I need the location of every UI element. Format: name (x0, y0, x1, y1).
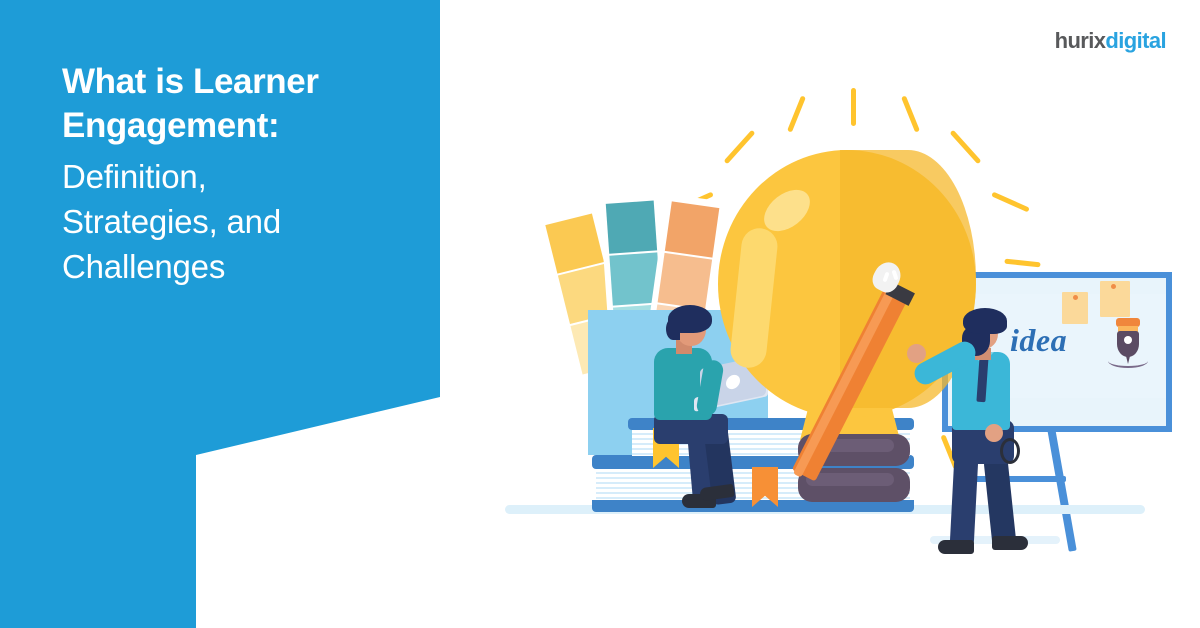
pen-nib-icon (1108, 318, 1148, 366)
page-title: What is Learner Engagement: Definition, … (62, 60, 442, 289)
idea-label: idea (1010, 322, 1067, 359)
logo-text-digital: digital (1105, 28, 1166, 53)
subtitle-line-2: Strategies, and (62, 199, 442, 244)
banner-canvas: idea (0, 0, 1200, 628)
ray-icon (724, 130, 756, 165)
sticky-note (1100, 281, 1130, 317)
title-line-1: What is Learner (62, 60, 442, 104)
logo-text-hurix: hurix (1055, 28, 1106, 53)
hand (907, 344, 926, 363)
easel-leg-right (1047, 428, 1076, 552)
ray-icon (950, 130, 982, 165)
hand (985, 424, 1003, 442)
subtitle: Definition, Strategies, and Challenges (62, 154, 442, 289)
ray-icon (787, 95, 806, 132)
sticky-note (1062, 292, 1088, 324)
ray-icon (991, 192, 1030, 213)
ray-icon (1004, 259, 1040, 268)
subtitle-line-3: Challenges (62, 244, 442, 289)
ray-icon (851, 88, 856, 126)
title-line-2: Engagement: (62, 104, 442, 148)
ray-icon (901, 95, 920, 132)
hurixdigital-logo[interactable]: hurixdigital (1055, 30, 1166, 52)
subtitle-line-1: Definition, (62, 154, 442, 199)
